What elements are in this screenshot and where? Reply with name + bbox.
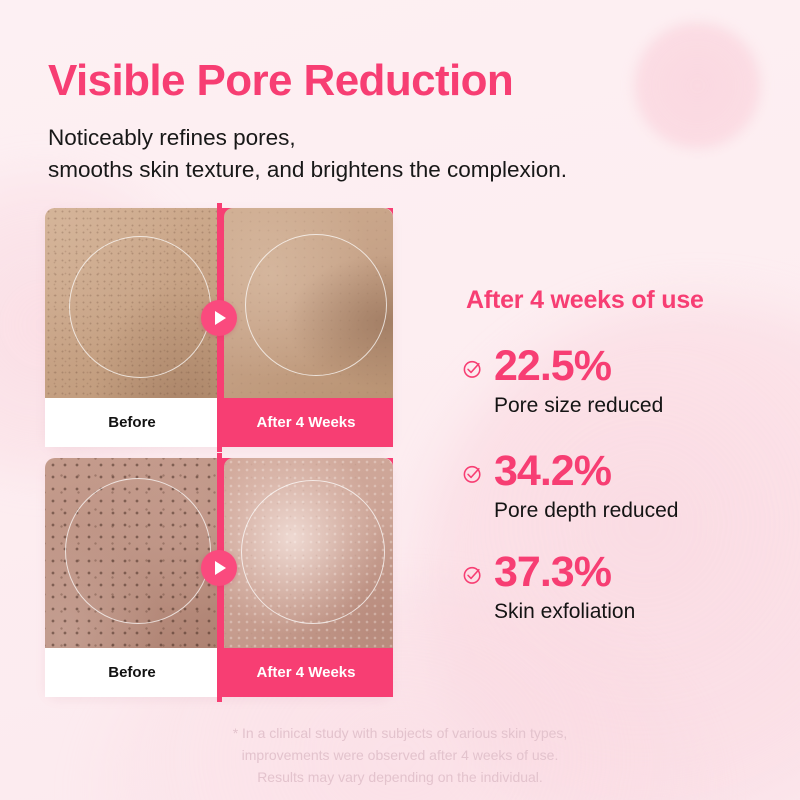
stat-value: 34.2% — [494, 450, 678, 493]
stat-value: 22.5% — [494, 345, 663, 388]
infographic-page: Visible Pore Reduction Noticeably refine… — [0, 0, 800, 800]
pore-speckle-overlay — [219, 458, 393, 648]
stat-row: 37.3% Skin exfoliation — [462, 551, 635, 625]
play-triangle-icon-1[interactable] — [201, 300, 237, 336]
stats-heading: After 4 weeks of use — [466, 286, 704, 315]
photo-row: Before After 4 Weeks — [45, 458, 393, 697]
check-circle-icon — [462, 463, 484, 485]
stat-label: Skin exfoliation — [494, 599, 635, 625]
before-label-1: Before — [45, 398, 219, 447]
stat-label: Pore depth reduced — [494, 498, 678, 524]
stat-value: 37.3% — [494, 551, 635, 594]
page-subtitle: Noticeably refines pores, smooths skin t… — [48, 122, 567, 186]
before-photo-image-2 — [45, 458, 219, 648]
after-label-1: After 4 Weeks — [219, 398, 393, 447]
decorative-circle-top-right — [630, 18, 765, 153]
before-after-card-1: Before After 4 Weeks — [45, 208, 393, 447]
stat-label: Pore size reduced — [494, 393, 663, 419]
stat-row: 34.2% Pore depth reduced — [462, 450, 678, 524]
stat-text: 34.2% Pore depth reduced — [494, 450, 678, 524]
check-circle-icon — [462, 564, 484, 586]
before-photo-image-1 — [45, 208, 219, 398]
before-label-2: Before — [45, 648, 219, 697]
pore-speckle-overlay — [45, 208, 219, 398]
play-triangle-icon-2[interactable] — [201, 550, 237, 586]
stat-text: 37.3% Skin exfoliation — [494, 551, 635, 625]
after-label-2: After 4 Weeks — [219, 648, 393, 697]
footnote-disclaimer: * In a clinical study with subjects of v… — [0, 722, 800, 788]
after-photo-panel-2: After 4 Weeks — [219, 458, 393, 697]
play-triangle-glyph — [215, 561, 226, 575]
check-circle-icon — [462, 358, 484, 380]
pore-speckle-overlay — [45, 458, 219, 648]
stat-text: 22.5% Pore size reduced — [494, 345, 663, 419]
page-title: Visible Pore Reduction — [48, 58, 513, 105]
pore-speckle-overlay — [219, 208, 393, 398]
before-photo-panel-1: Before — [45, 208, 219, 447]
after-photo-panel-1: After 4 Weeks — [219, 208, 393, 447]
photo-row: Before After 4 Weeks — [45, 208, 393, 447]
play-triangle-glyph — [215, 311, 226, 325]
after-photo-image-2 — [219, 458, 393, 648]
stat-row: 22.5% Pore size reduced — [462, 345, 663, 419]
before-after-card-2: Before After 4 Weeks — [45, 458, 393, 697]
after-photo-image-1 — [219, 208, 393, 398]
before-photo-panel-2: Before — [45, 458, 219, 697]
